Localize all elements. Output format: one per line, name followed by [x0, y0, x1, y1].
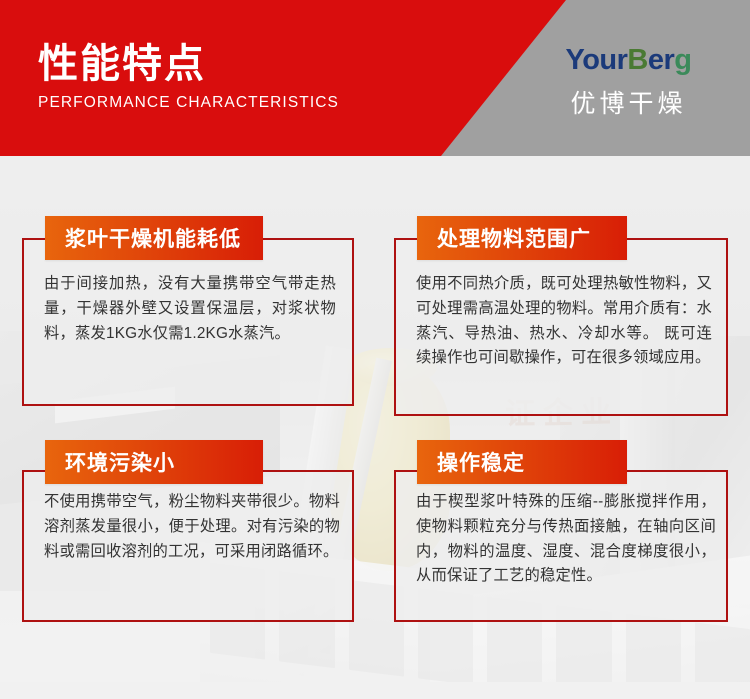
feature-card-body-text: 由于楔型浆叶特殊的压缩--膨胀搅拌作用，使物料颗粒充分与传热面接触，在轴向区间内…: [416, 490, 716, 589]
brand-logo: YourBerg 优博干燥: [541, 46, 716, 120]
logo-subtitle-cn: 优博干燥: [541, 84, 716, 120]
feature-card-body-text: 由于间接加热，没有大量携带空气带走热量，干燥器外壁又设置保温层，对浆状物料，蒸发…: [44, 272, 336, 346]
page-title-en: PERFORMANCE CHARACTERISTICS: [38, 94, 339, 112]
logo-wordmark-part1: Your: [566, 44, 628, 76]
performance-characteristics-page: 性能特点 PERFORMANCE CHARACTERISTICS YourBer…: [0, 0, 750, 699]
header-title-group: 性能特点 PERFORMANCE CHARACTERISTICS: [38, 42, 339, 112]
feature-card-title-badge: 浆叶干燥机能耗低: [45, 216, 263, 260]
feature-card-body-text: 使用不同热介质，既可处理热敏性物料，又可处理需高温处理的物料。常用介质有：水蒸汽…: [416, 272, 712, 371]
logo-wordmark-part2: B: [627, 44, 647, 76]
logo-wordmark-part4: g: [674, 44, 691, 76]
logo-wordmark-part3: er: [648, 44, 674, 76]
feature-card-title-badge: 处理物料范围广: [417, 216, 627, 260]
feature-card-body-text: 不使用携带空气，粉尘物料夹带很少。物料溶剂蒸发量很小，便于处理。对有污染的物料或…: [44, 490, 340, 564]
page-header: 性能特点 PERFORMANCE CHARACTERISTICS YourBer…: [0, 0, 750, 156]
page-title-cn: 性能特点: [38, 42, 339, 87]
logo-wordmark: YourBerg: [541, 46, 716, 75]
page-bottom-strip: [0, 682, 750, 699]
feature-card-title-badge: 操作稳定: [417, 440, 627, 484]
feature-card-title-badge: 环境污染小: [45, 440, 263, 484]
